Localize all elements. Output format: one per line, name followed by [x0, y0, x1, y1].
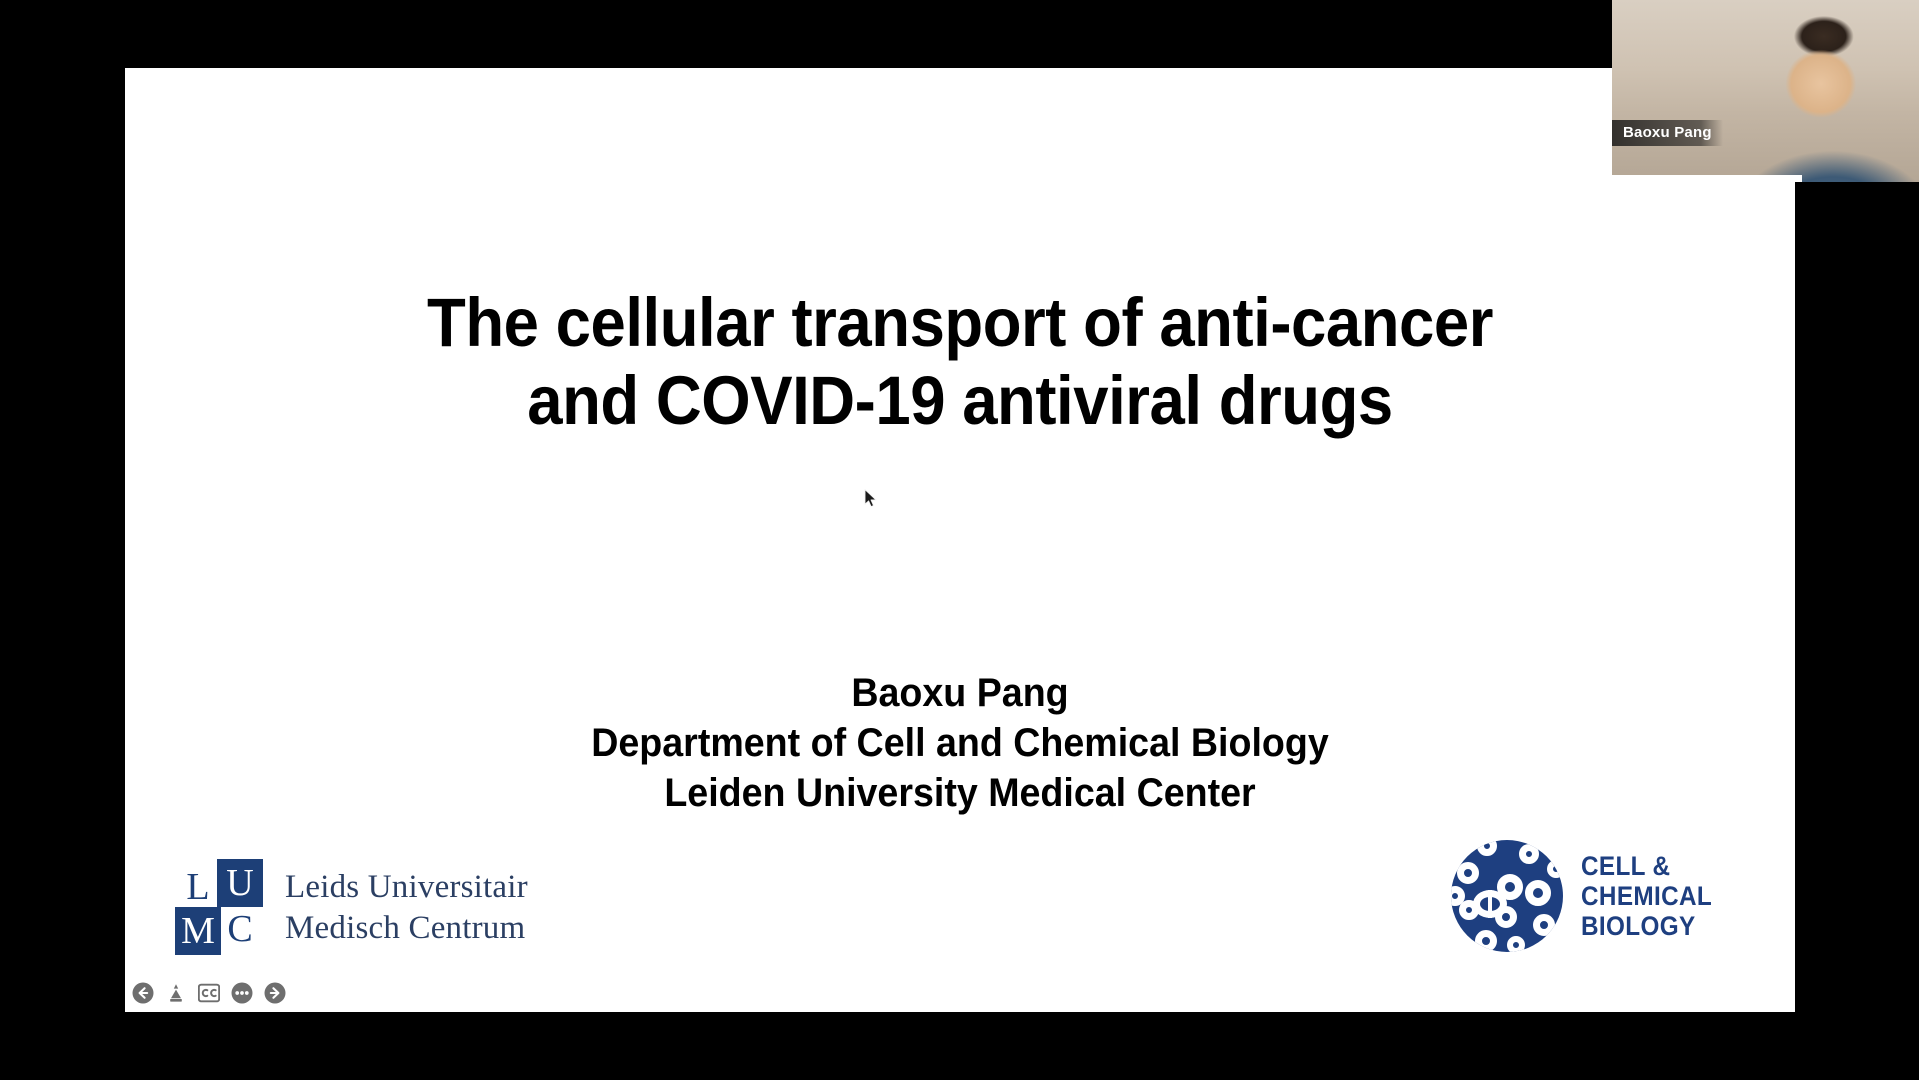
lumc-letter-l: L [175, 863, 221, 911]
screen-share-stage: The cellular transport of anti-cancer an… [0, 0, 1919, 1080]
author-name: Baoxu Pang [175, 668, 1745, 718]
webcam-participant-name: Baoxu Pang [1612, 120, 1723, 146]
lumc-wordmark-line2: Medisch Centrum [285, 908, 528, 949]
slide-player-toolbar[interactable] [128, 980, 290, 1006]
ccb-wordmark: CELL & CHEMICAL BIOLOGY [1581, 851, 1712, 941]
webcam-tile-notch [1612, 175, 1802, 182]
lumc-wordmark: Leids Universitair Medisch Centrum [285, 867, 528, 949]
author-institution: Leiden University Medical Center [175, 768, 1745, 818]
more-options-icon[interactable] [231, 982, 253, 1004]
lumc-letter-c: C [217, 905, 263, 953]
cell-cluster-icon [1451, 840, 1563, 952]
pointer-tool-icon[interactable] [165, 982, 187, 1004]
author-department: Department of Cell and Chemical Biology [175, 718, 1745, 768]
webcam-tile-baoxu-pang[interactable]: Baoxu Pang [1612, 0, 1919, 182]
author-block: Baoxu Pang Department of Cell and Chemic… [175, 668, 1745, 818]
ccb-wordmark-line2: CHEMICAL [1581, 881, 1712, 911]
lumc-logo: L U M C Leids Universitair Medisch Centr… [175, 859, 528, 957]
mouse-cursor [864, 489, 878, 509]
lumc-letter-u: U [217, 859, 263, 907]
closed-caption-icon[interactable] [198, 982, 220, 1004]
webcam-video-feed [1612, 0, 1919, 182]
forward-arrow-icon[interactable] [264, 982, 286, 1004]
lumc-letter-m: M [175, 907, 221, 955]
ccb-wordmark-line3: BIOLOGY [1581, 911, 1712, 941]
lumc-monogram-icon: L U M C [175, 859, 263, 957]
slide-title: The cellular transport of anti-cancer an… [192, 284, 1728, 440]
lumc-wordmark-line1: Leids Universitair [285, 867, 528, 908]
ccb-wordmark-line1: CELL & [1581, 851, 1712, 881]
presentation-slide[interactable]: The cellular transport of anti-cancer an… [125, 68, 1795, 1012]
cell-chemical-biology-logo: CELL & CHEMICAL BIOLOGY [1451, 840, 1727, 952]
back-arrow-icon[interactable] [132, 982, 154, 1004]
